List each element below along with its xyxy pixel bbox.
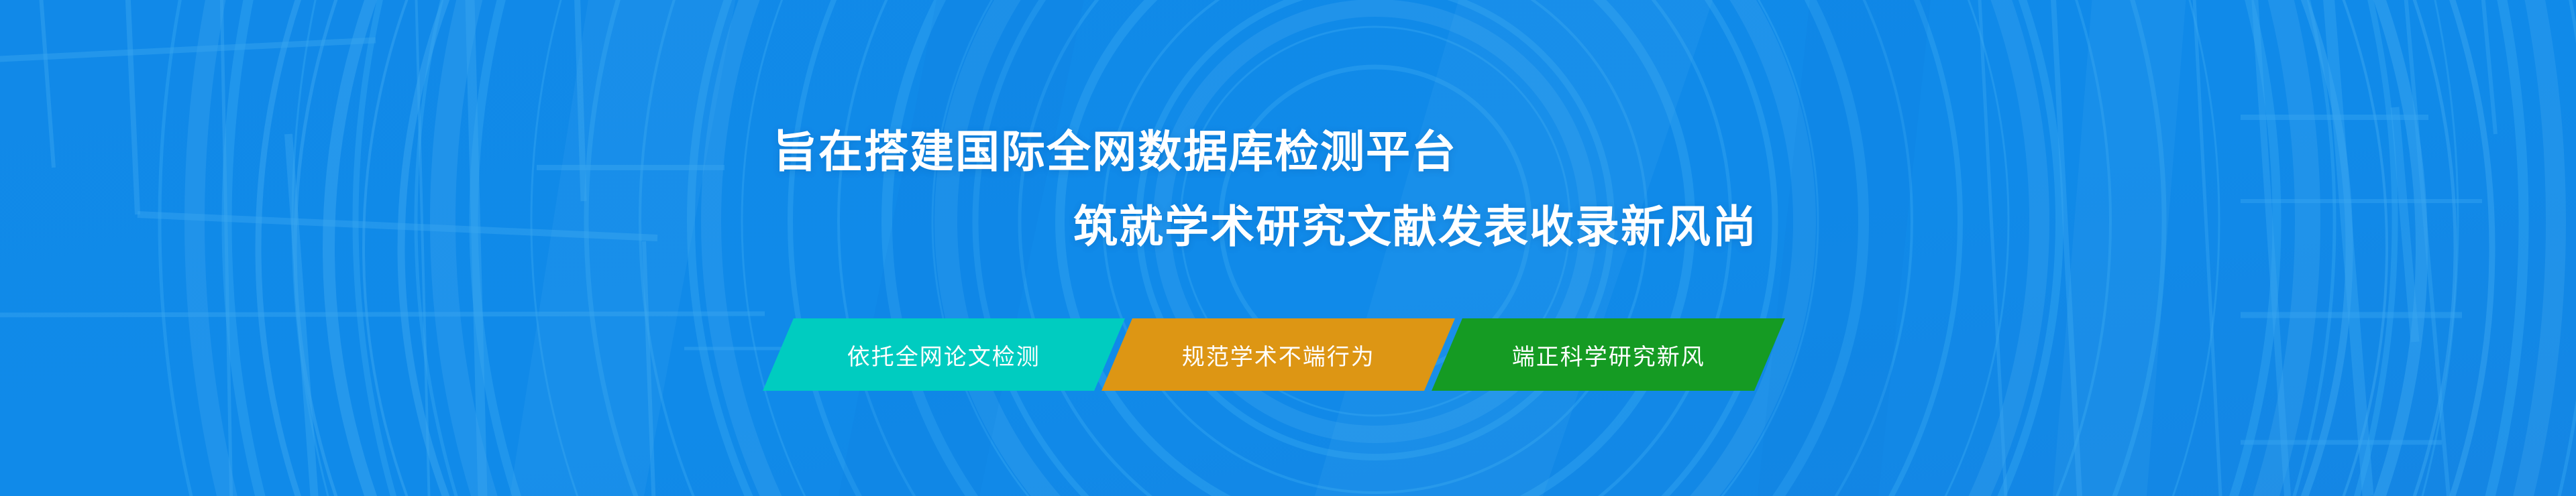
feature-tag-label: 规范学术不端行为 (1182, 338, 1375, 371)
feature-tag-strip: 依托全网论文检测 规范学术不端行为 端正科学研究新风 (778, 318, 1770, 391)
feature-tag-label: 依托全网论文检测 (847, 338, 1040, 371)
feature-tag-label: 端正科学研究新风 (1512, 338, 1705, 371)
feature-tag-misconduct-regulation[interactable]: 规范学术不端行为 (1102, 318, 1455, 391)
headline-line-2: 筑就学术研究文献发表收录新风尚 (1073, 204, 1758, 249)
headline-line-1: 旨在搭建国际全网数据库检测平台 (773, 129, 1457, 174)
feature-tag-paper-detection[interactable]: 依托全网论文检测 (763, 318, 1125, 391)
promo-banner: 旨在搭建国际全网数据库检测平台 筑就学术研究文献发表收录新风尚 依托全网论文检测… (0, 0, 2576, 496)
feature-tag-research-integrity[interactable]: 端正科学研究新风 (1432, 318, 1785, 391)
